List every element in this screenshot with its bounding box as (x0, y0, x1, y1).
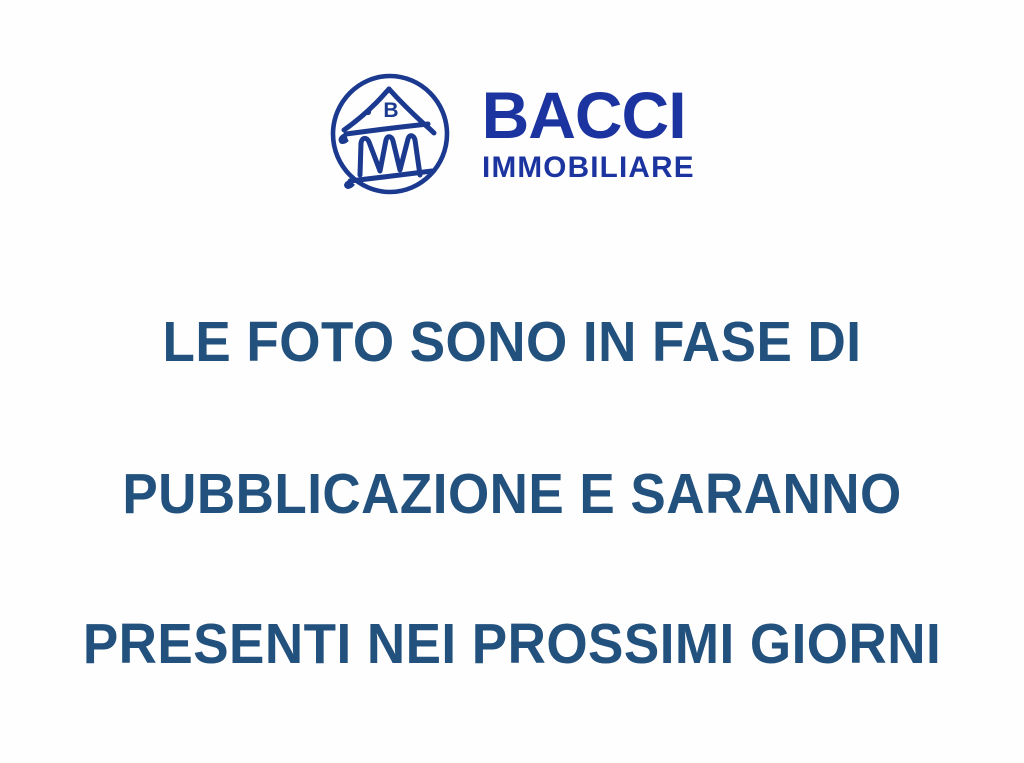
notice-message: LE FOTO SONO IN FASE DI PUBBLICAZIONE E … (0, 296, 1024, 696)
brand-subtitle: IMMOBILIARE (482, 153, 695, 183)
brand-logo-lockup: B BACCI IMMOBILIARE (0, 62, 1024, 207)
brand-name: BACCI (482, 90, 686, 141)
brand-wordmark: BACCI IMMOBILIARE (482, 86, 697, 182)
notice-line-1: LE FOTO SONO IN FASE DI (36, 314, 988, 371)
photo-placeholder-card: B BACCI IMMOBILIARE LE FOTO SONO IN FASE… (0, 0, 1024, 763)
svg-text:B: B (383, 99, 398, 122)
bacci-house-circle-logo-icon: B (328, 71, 452, 199)
notice-line-3: PRESENTI NEI PROSSIMI GIORNI (36, 616, 988, 673)
notice-line-2: PUBBLICAZIONE E SARANNO (36, 466, 988, 523)
